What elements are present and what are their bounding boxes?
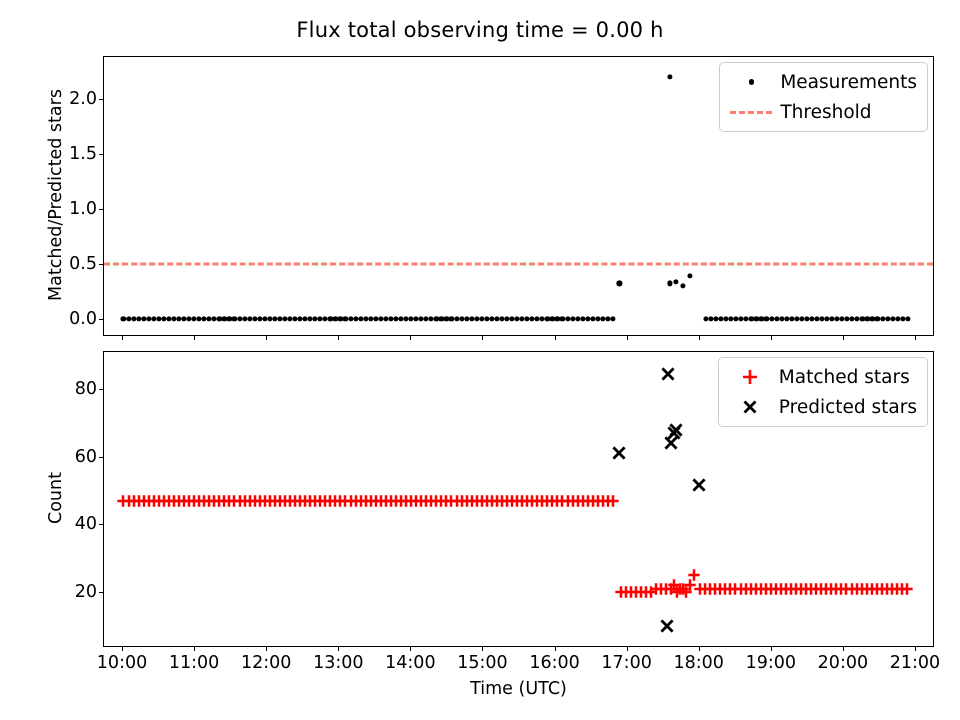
ratio-panel-y-tick — [99, 99, 104, 100]
legend-label-threshold: Threshold — [774, 102, 871, 123]
count-panel-x-tick — [194, 646, 195, 651]
count-panel-x-tick — [482, 646, 483, 651]
x-tick-label: 11:00 — [169, 653, 219, 673]
count-panel-x-tick — [266, 646, 267, 651]
count-panel-y-tick — [99, 592, 104, 593]
x-tick-label: 12:00 — [241, 653, 291, 673]
measurement-point — [610, 316, 615, 321]
predicted-star-point — [611, 445, 627, 461]
measurement-point — [687, 273, 692, 278]
ratio-panel-legend: Measurements Threshold — [719, 62, 928, 132]
count-panel-axes: Count Matched stars Predicted stars 20 — [103, 351, 934, 647]
ratio-panel-x-tick — [338, 335, 339, 340]
x-tick-label: 15:00 — [457, 653, 507, 673]
ratio-panel-x-tick — [627, 335, 628, 340]
count-panel-x-tick — [771, 646, 772, 651]
threshold-dash-icon — [728, 111, 774, 114]
ratio-panel-y-tick — [99, 209, 104, 210]
ratio-panel-y-tick-label: 1.0 — [69, 199, 97, 219]
legend-label-matched-stars: Matched stars — [773, 367, 910, 388]
matched-star-point — [901, 582, 914, 595]
count-panel-x-tick — [122, 646, 123, 651]
ratio-panel-x-tick — [266, 335, 267, 340]
measurement-point — [905, 316, 910, 321]
legend-label-measurements: Measurements — [774, 72, 917, 93]
count-panel-y-tick-label: 80 — [75, 379, 97, 399]
ratio-panel-axes: Matched/Predicted stars Measurements Thr… — [103, 56, 934, 336]
x-marker-icon — [727, 397, 773, 417]
measurement-point — [667, 281, 672, 286]
count-panel-x-tick — [338, 646, 339, 651]
count-panel-y-tick — [99, 457, 104, 458]
plus-marker-icon — [727, 367, 773, 387]
x-tick-label: 14:00 — [385, 653, 435, 673]
ratio-panel-y-tick-label: 2.0 — [69, 89, 97, 109]
count-panel-legend: Matched stars Predicted stars — [718, 357, 928, 427]
predicted-star-point — [660, 366, 676, 382]
matched-star-point — [606, 494, 619, 507]
page-title: Flux total observing time = 0.00 h — [0, 18, 960, 42]
predicted-star-point — [668, 422, 684, 438]
count-panel-y-tick-label: 60 — [75, 447, 97, 467]
legend-label-predicted-stars: Predicted stars — [773, 397, 917, 418]
ratio-panel-y-tick-label: 0.0 — [69, 309, 97, 329]
x-tick-label: 20:00 — [818, 653, 868, 673]
ratio-panel-x-tick — [194, 335, 195, 340]
count-panel-x-tick — [843, 646, 844, 651]
x-tick-label: 16:00 — [529, 653, 579, 673]
measurement-point — [617, 281, 622, 286]
ratio-panel-x-tick — [843, 335, 844, 340]
x-axis-label: Time (UTC) — [103, 679, 934, 699]
predicted-star-point — [691, 477, 707, 493]
legend-item-matched-stars[interactable]: Matched stars — [727, 364, 917, 390]
ratio-panel-y-axis-label: Matched/Predicted stars — [46, 45, 66, 345]
legend-item-threshold[interactable]: Threshold — [728, 99, 917, 125]
legend-item-predicted-stars[interactable]: Predicted stars — [727, 394, 917, 420]
count-panel-y-axis-label: Count — [46, 398, 66, 598]
ratio-panel-y-tick-label: 1.5 — [69, 144, 97, 164]
x-tick-label: 21:00 — [890, 653, 940, 673]
ratio-panel-x-tick — [410, 335, 411, 340]
ratio-panel-x-tick — [771, 335, 772, 340]
legend-item-measurements[interactable]: Measurements — [728, 69, 917, 95]
count-panel-x-tick — [410, 646, 411, 651]
count-panel-y-tick — [99, 389, 104, 390]
count-panel-x-tick — [627, 646, 628, 651]
measurements-dot-icon — [728, 79, 774, 84]
measurement-point — [673, 280, 678, 285]
x-tick-label: 13:00 — [313, 653, 363, 673]
x-tick-label: 18:00 — [673, 653, 723, 673]
ratio-panel-x-tick — [699, 335, 700, 340]
x-tick-label: 17:00 — [601, 653, 651, 673]
ratio-panel-x-tick — [122, 335, 123, 340]
count-panel-y-tick-label: 40 — [75, 514, 97, 534]
count-panel-y-tick — [99, 524, 104, 525]
predicted-star-point — [659, 618, 675, 634]
matched-star-point — [688, 569, 701, 582]
ratio-panel-x-tick — [482, 335, 483, 340]
ratio-panel-y-tick — [99, 154, 104, 155]
x-tick-label: 19:00 — [746, 653, 796, 673]
ratio-panel-y-tick — [99, 264, 104, 265]
measurement-point — [680, 283, 685, 288]
ratio-panel-y-tick-label: 0.5 — [69, 254, 97, 274]
x-tick-label: 10:00 — [97, 653, 147, 673]
count-panel-x-tick — [915, 646, 916, 651]
count-panel-x-tick — [699, 646, 700, 651]
count-panel-x-tick — [555, 646, 556, 651]
count-panel-y-tick-label: 20 — [75, 582, 97, 602]
ratio-panel-x-tick — [555, 335, 556, 340]
matplotlib-figure: Flux total observing time = 0.00 h Match… — [0, 0, 960, 720]
ratio-panel-x-tick — [915, 335, 916, 340]
measurement-point — [667, 74, 672, 79]
threshold-line — [104, 262, 933, 265]
ratio-panel-y-tick — [99, 319, 104, 320]
